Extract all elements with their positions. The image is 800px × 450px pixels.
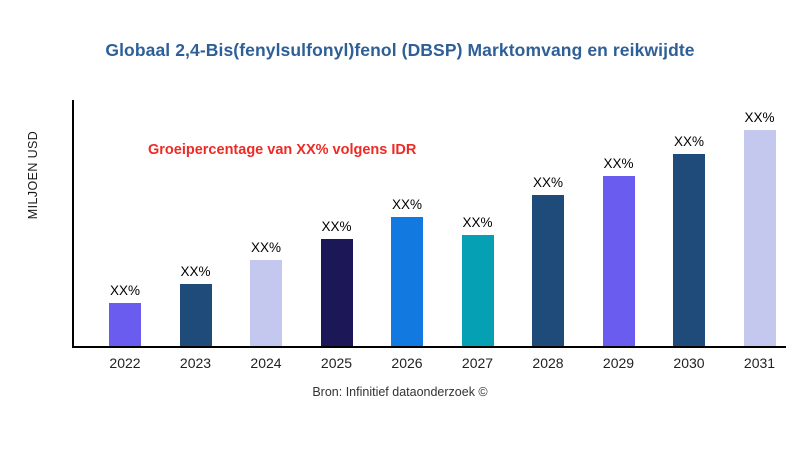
bar-2026[interactable]: XX%: [391, 217, 423, 346]
x-tick-2031: 2031: [725, 355, 795, 371]
growth-rate-annotation: Groeipercentage van XX% volgens IDR: [148, 142, 416, 158]
bar-2027[interactable]: XX%: [462, 235, 494, 346]
x-tick-2028: 2028: [513, 355, 583, 371]
bar-value-label-2024: XX%: [251, 240, 281, 255]
bar-2023[interactable]: XX%: [180, 284, 212, 346]
x-tick-2027: 2027: [443, 355, 513, 371]
chart-container: Globaal 2,4-Bis(fenylsulfonyl)fenol (DBS…: [0, 0, 800, 450]
source-caption: Bron: Infinitief dataonderzoek ©: [0, 385, 800, 399]
x-tick-2025: 2025: [302, 355, 372, 371]
bar-value-label-2030: XX%: [674, 134, 704, 149]
bar-2030[interactable]: XX%: [673, 154, 705, 346]
bar-2022[interactable]: XX%: [109, 303, 141, 346]
bar-2024[interactable]: XX%: [250, 260, 282, 346]
x-tick-2023: 2023: [161, 355, 231, 371]
bar-2025[interactable]: XX%: [321, 239, 353, 346]
bar-2031[interactable]: XX%: [744, 130, 776, 346]
bar-2029[interactable]: XX%: [603, 176, 635, 346]
x-tick-2029: 2029: [584, 355, 654, 371]
bar-value-label-2022: XX%: [110, 283, 140, 298]
x-axis-line: [72, 346, 786, 348]
x-tick-2022: 2022: [90, 355, 160, 371]
y-axis-line: [72, 100, 74, 348]
chart-title: Globaal 2,4-Bis(fenylsulfonyl)fenol (DBS…: [0, 40, 800, 61]
bar-value-label-2028: XX%: [533, 175, 563, 190]
x-tick-2024: 2024: [231, 355, 301, 371]
bar-value-label-2031: XX%: [744, 110, 774, 125]
bar-value-label-2023: XX%: [180, 264, 210, 279]
x-tick-2030: 2030: [654, 355, 724, 371]
bar-value-label-2027: XX%: [462, 215, 492, 230]
bar-2028[interactable]: XX%: [532, 195, 564, 346]
y-axis-label: MILJOEN USD: [26, 65, 40, 285]
bar-value-label-2025: XX%: [321, 219, 351, 234]
bar-value-label-2029: XX%: [603, 156, 633, 171]
bar-value-label-2026: XX%: [392, 197, 422, 212]
x-tick-2026: 2026: [372, 355, 442, 371]
plot-area: XX%XX%XX%XX%XX%XX%XX%XX%XX%XX%: [72, 100, 790, 348]
